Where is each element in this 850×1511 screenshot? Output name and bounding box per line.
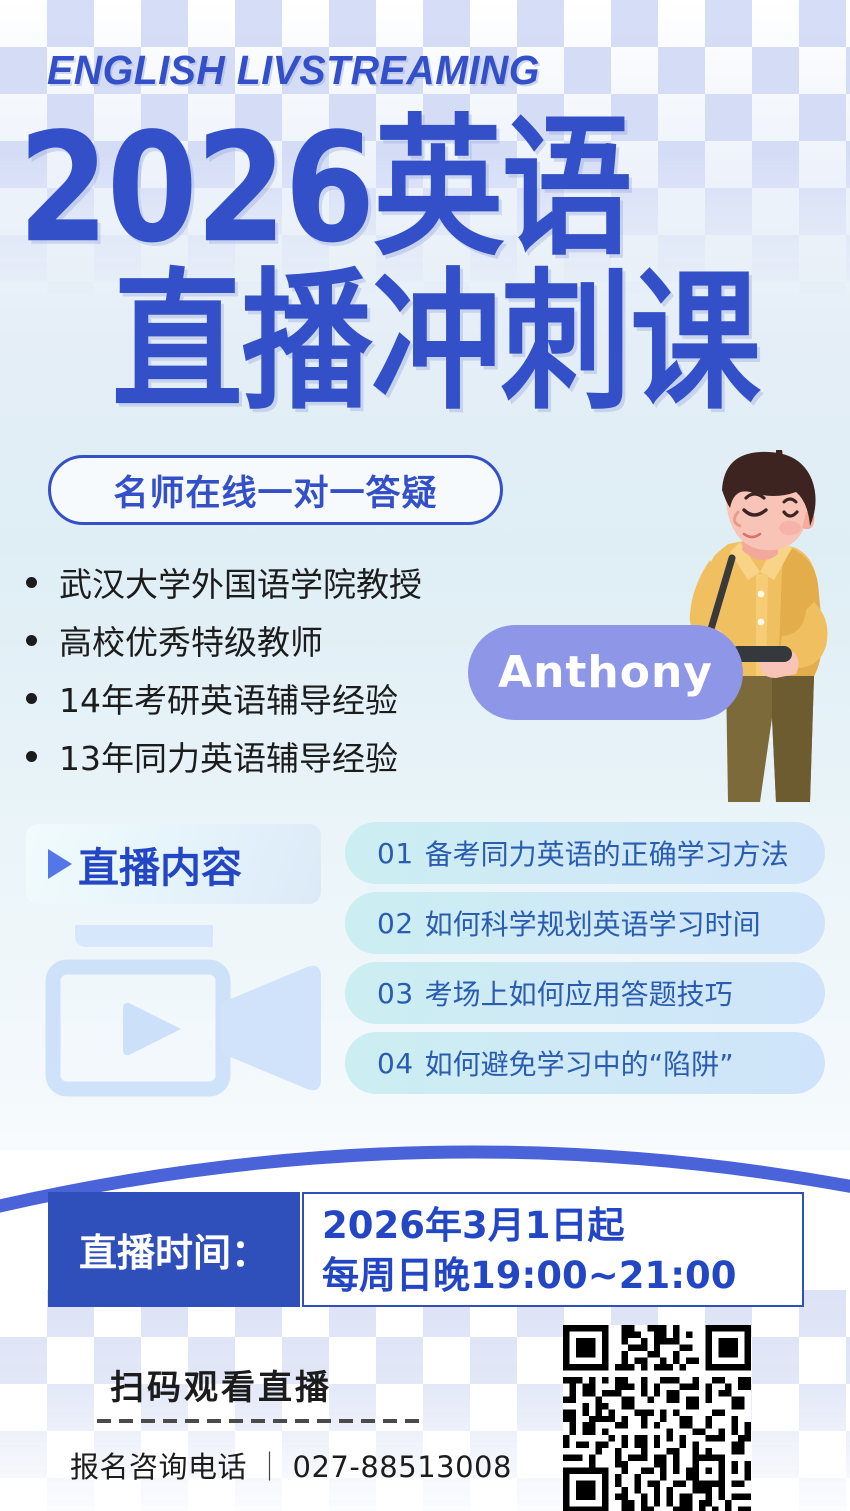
list-item: 高校优秀特级教师 [26, 611, 546, 669]
live-content-label: 直播内容 [78, 834, 242, 894]
topic-label: 如何避免学习中的“陷阱” [425, 1043, 734, 1083]
list-item-label: 14年考研英语辅导经验 [59, 674, 398, 722]
list-item: 03 考场上如何应用答题技巧 [345, 962, 825, 1024]
poster-root: ENGLISH LIVSTREAMING 2026英语 直播冲刺课 名师在线一对… [0, 0, 850, 1511]
teacher-name-badge: Anthony [468, 625, 743, 720]
schedule-value-box: 2026年3月1日起 每周日晚19:00~21:00 [302, 1192, 804, 1307]
bullet-dot-icon [26, 577, 37, 588]
topic-label: 备考同力英语的正确学习方法 [425, 833, 789, 873]
list-item: 武汉大学外国语学院教授 [26, 553, 546, 611]
video-camera-icon [35, 905, 355, 1120]
scan-title: 扫码观看直播 [110, 1360, 332, 1409]
bullet-dot-icon [26, 635, 37, 646]
play-triangle-icon [48, 849, 72, 879]
list-item: 01 备考同力英语的正确学习方法 [345, 822, 825, 884]
list-item: 04 如何避免学习中的“陷阱” [345, 1032, 825, 1094]
phone-number: 027-88513008 [293, 1450, 512, 1484]
phone-label: 报名咨询电话 [70, 1450, 247, 1484]
dashed-divider [97, 1419, 427, 1423]
topic-number: 03 [377, 977, 414, 1010]
schedule-label-text: 直播时间： [79, 1222, 269, 1277]
list-item: 02 如何科学规划英语学习时间 [345, 892, 825, 954]
qr-code-icon[interactable] [563, 1325, 751, 1511]
tagline-badge: 名师在线一对一答疑 [48, 455, 503, 525]
page-title-line1: 2026英语 [18, 114, 850, 265]
schedule-start-date: 2026年3月1日起 [322, 1201, 802, 1251]
list-item-label: 高校优秀特级教师 [59, 616, 323, 664]
teacher-name-label: Anthony [498, 647, 713, 698]
topic-number: 01 [377, 837, 414, 870]
topic-label: 如何科学规划英语学习时间 [425, 903, 761, 943]
list-item-label: 13年同力英语辅导经验 [59, 732, 398, 780]
schedule-label: 直播时间： [48, 1192, 300, 1307]
english-kicker: ENGLISH LIVSTREAMING [47, 47, 540, 94]
tagline-badge-label: 名师在线一对一答疑 [113, 465, 437, 516]
schedule-weekly-time: 每周日晚19:00~21:00 [322, 1251, 802, 1301]
page-title-line2: 直播冲刺课 [112, 268, 850, 419]
phone-separator: ｜ [255, 1450, 285, 1484]
topic-number: 02 [377, 907, 414, 940]
topic-number: 04 [377, 1047, 414, 1080]
topic-label: 考场上如何应用答题技巧 [425, 973, 733, 1013]
live-content-header: 直播内容 [26, 824, 321, 904]
topic-list: 01 备考同力英语的正确学习方法 02 如何科学规划英语学习时间 03 考场上如… [345, 822, 825, 1102]
list-item: 13年同力英语辅导经验 [26, 727, 546, 785]
contact-phone-line: 报名咨询电话｜027-88513008 [70, 1444, 512, 1486]
bullet-dot-icon [26, 693, 37, 704]
list-item-label: 武汉大学外国语学院教授 [59, 558, 422, 606]
bullet-dot-icon [26, 751, 37, 762]
